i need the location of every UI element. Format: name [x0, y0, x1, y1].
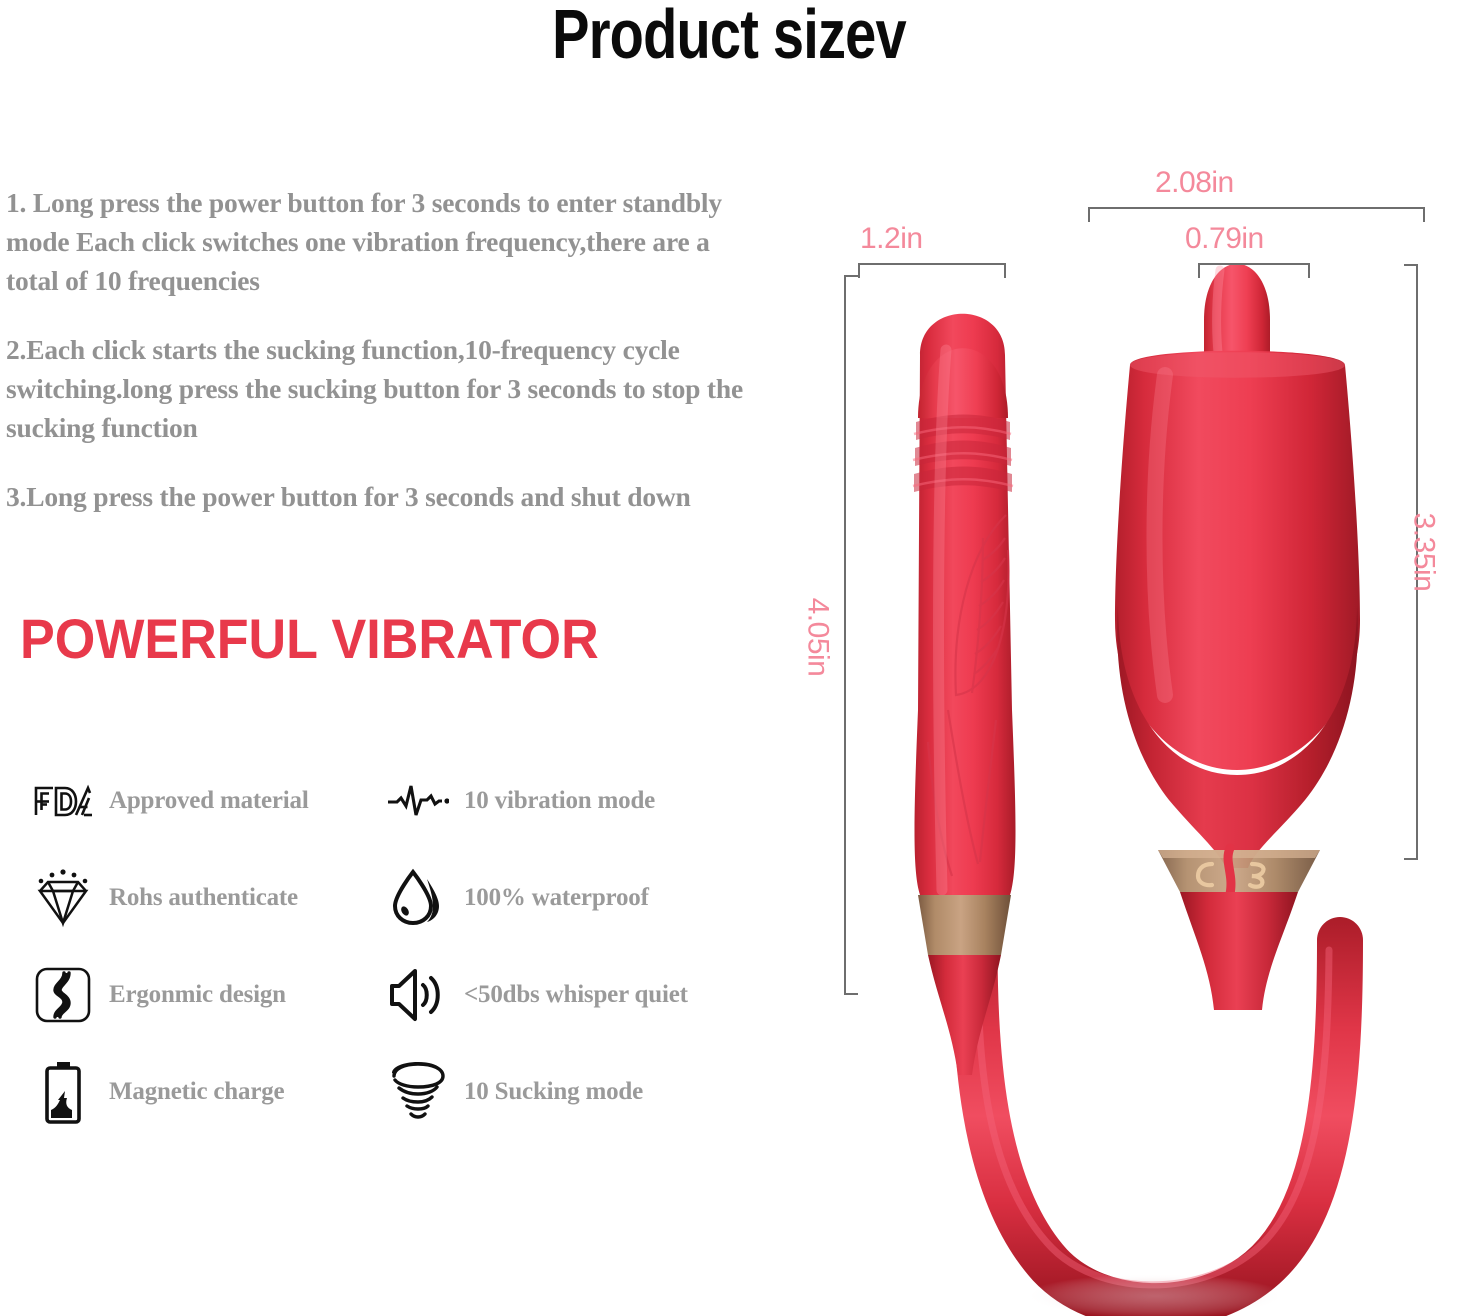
ergonomic-body-icon — [30, 962, 96, 1028]
feature-item-ergonomic-design: Ergonmic design — [30, 946, 385, 1043]
feature-item-waterproof: 100% waterproof — [385, 849, 730, 946]
diamond-icon — [30, 865, 96, 931]
dimension-bracket-rose-tongue-width — [1198, 263, 1310, 278]
product-size-infographic: Product sizev 1. Long press the power bu… — [0, 0, 1458, 1316]
feature-label: Rohs authenticate — [109, 884, 298, 912]
ridge-rings — [913, 415, 1013, 493]
headline-powerful-vibrator: POWERFUL VIBRATOR — [20, 606, 599, 671]
feature-item-sucking-mode: 10 Sucking mode — [385, 1043, 730, 1140]
dimension-bracket-bullet-height — [844, 275, 858, 995]
feature-label: Approved material — [109, 787, 309, 815]
dimension-label-rose-tongue-width: 0.79in — [1185, 222, 1264, 256]
fda-icon — [30, 768, 96, 834]
vortex-icon — [385, 1059, 451, 1125]
feature-item-vibration-mode: 10 vibration mode — [385, 752, 730, 849]
instruction-paragraph-2: 2.Each click starts the sucking function… — [6, 330, 751, 447]
feature-item-rohs-authenticate: Rohs authenticate — [30, 849, 385, 946]
product-illustration — [800, 150, 1458, 1316]
product-reflection — [1025, 1274, 1285, 1316]
dimension-bracket-bullet-width — [858, 263, 1006, 278]
speaker-icon — [385, 962, 451, 1028]
water-drop-icon — [385, 865, 451, 931]
rose-gold-band — [1158, 848, 1320, 894]
dimension-bracket-rose-overall-width — [1088, 207, 1425, 222]
dimension-label-bullet-width: 1.2in — [860, 222, 923, 256]
feature-label: 100% waterproof — [464, 884, 649, 912]
dimension-label-bullet-height: 4.05in — [800, 598, 834, 677]
instruction-paragraph-3: 3.Long press the power button for 3 seco… — [6, 477, 836, 516]
connecting-cord — [975, 910, 1340, 1306]
instruction-paragraph-1: 1. Long press the power button for 3 sec… — [6, 183, 751, 300]
product-image-with-dimensions: 1.2in 4.05in 2.08in 0.79in 3.35in — [800, 150, 1458, 1316]
feature-item-magnetic-charge: Magnetic charge — [30, 1043, 385, 1140]
battery-icon — [30, 1059, 96, 1125]
feature-label: Magnetic charge — [109, 1078, 284, 1106]
pulse-wave-icon — [385, 768, 451, 834]
feature-label: 10 vibration mode — [464, 787, 655, 815]
feature-item-approved-material: Approved material — [30, 752, 385, 849]
feature-list: Approved material 10 vibration mode — [30, 752, 730, 1140]
rose-stem — [1180, 892, 1298, 1010]
feature-label: <50dbs whisper quiet — [464, 981, 688, 1009]
feature-label: 10 Sucking mode — [464, 1078, 643, 1106]
rose-tongue-vibrator — [1115, 264, 1360, 1010]
bullet-gold-band — [918, 895, 1011, 955]
page-title: Product sizev — [146, 0, 1312, 74]
bullet-vibrator — [913, 314, 1016, 1075]
feature-label: Ergonmic design — [109, 981, 286, 1009]
feature-item-whisper-quiet: <50dbs whisper quiet — [385, 946, 730, 1043]
dimension-label-rose-overall-width: 2.08in — [1155, 166, 1234, 200]
dimension-label-rose-height: 3.35in — [1406, 513, 1440, 592]
